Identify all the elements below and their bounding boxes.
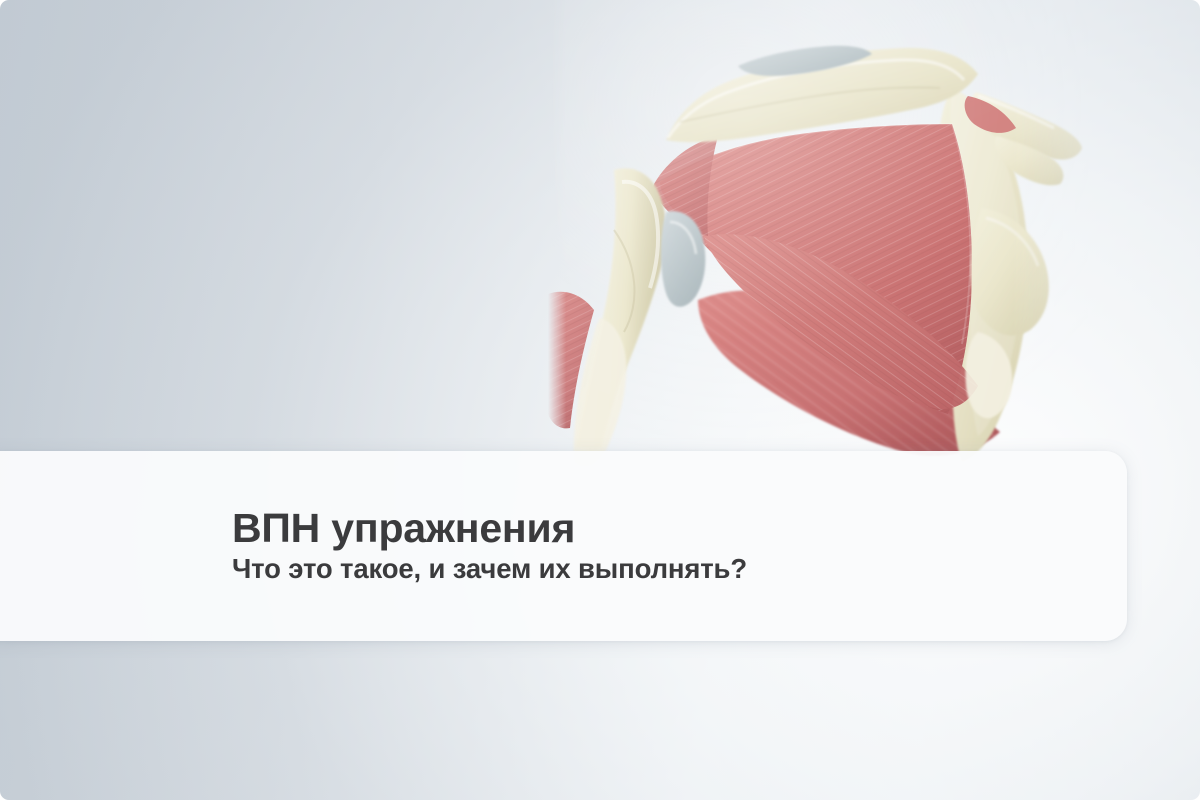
- page-subtitle: Что это такое, и зачем их выполнять?: [232, 554, 747, 585]
- caption-text-block: ВПН упражнения Что это такое, и зачем их…: [232, 451, 1103, 641]
- slide-canvas: ВПН упражнения Что это такое, и зачем их…: [0, 0, 1200, 800]
- page-title: ВПН упражнения: [232, 507, 575, 550]
- shoulder-anatomy-svg: [548, 0, 1088, 470]
- shoulder-anatomy-illustration: [548, 0, 1088, 470]
- illustration-fade-mask: [548, 0, 1088, 470]
- illustration-sheen: [548, 0, 1088, 470]
- caption-card: ВПН упражнения Что это такое, и зачем их…: [0, 451, 1127, 641]
